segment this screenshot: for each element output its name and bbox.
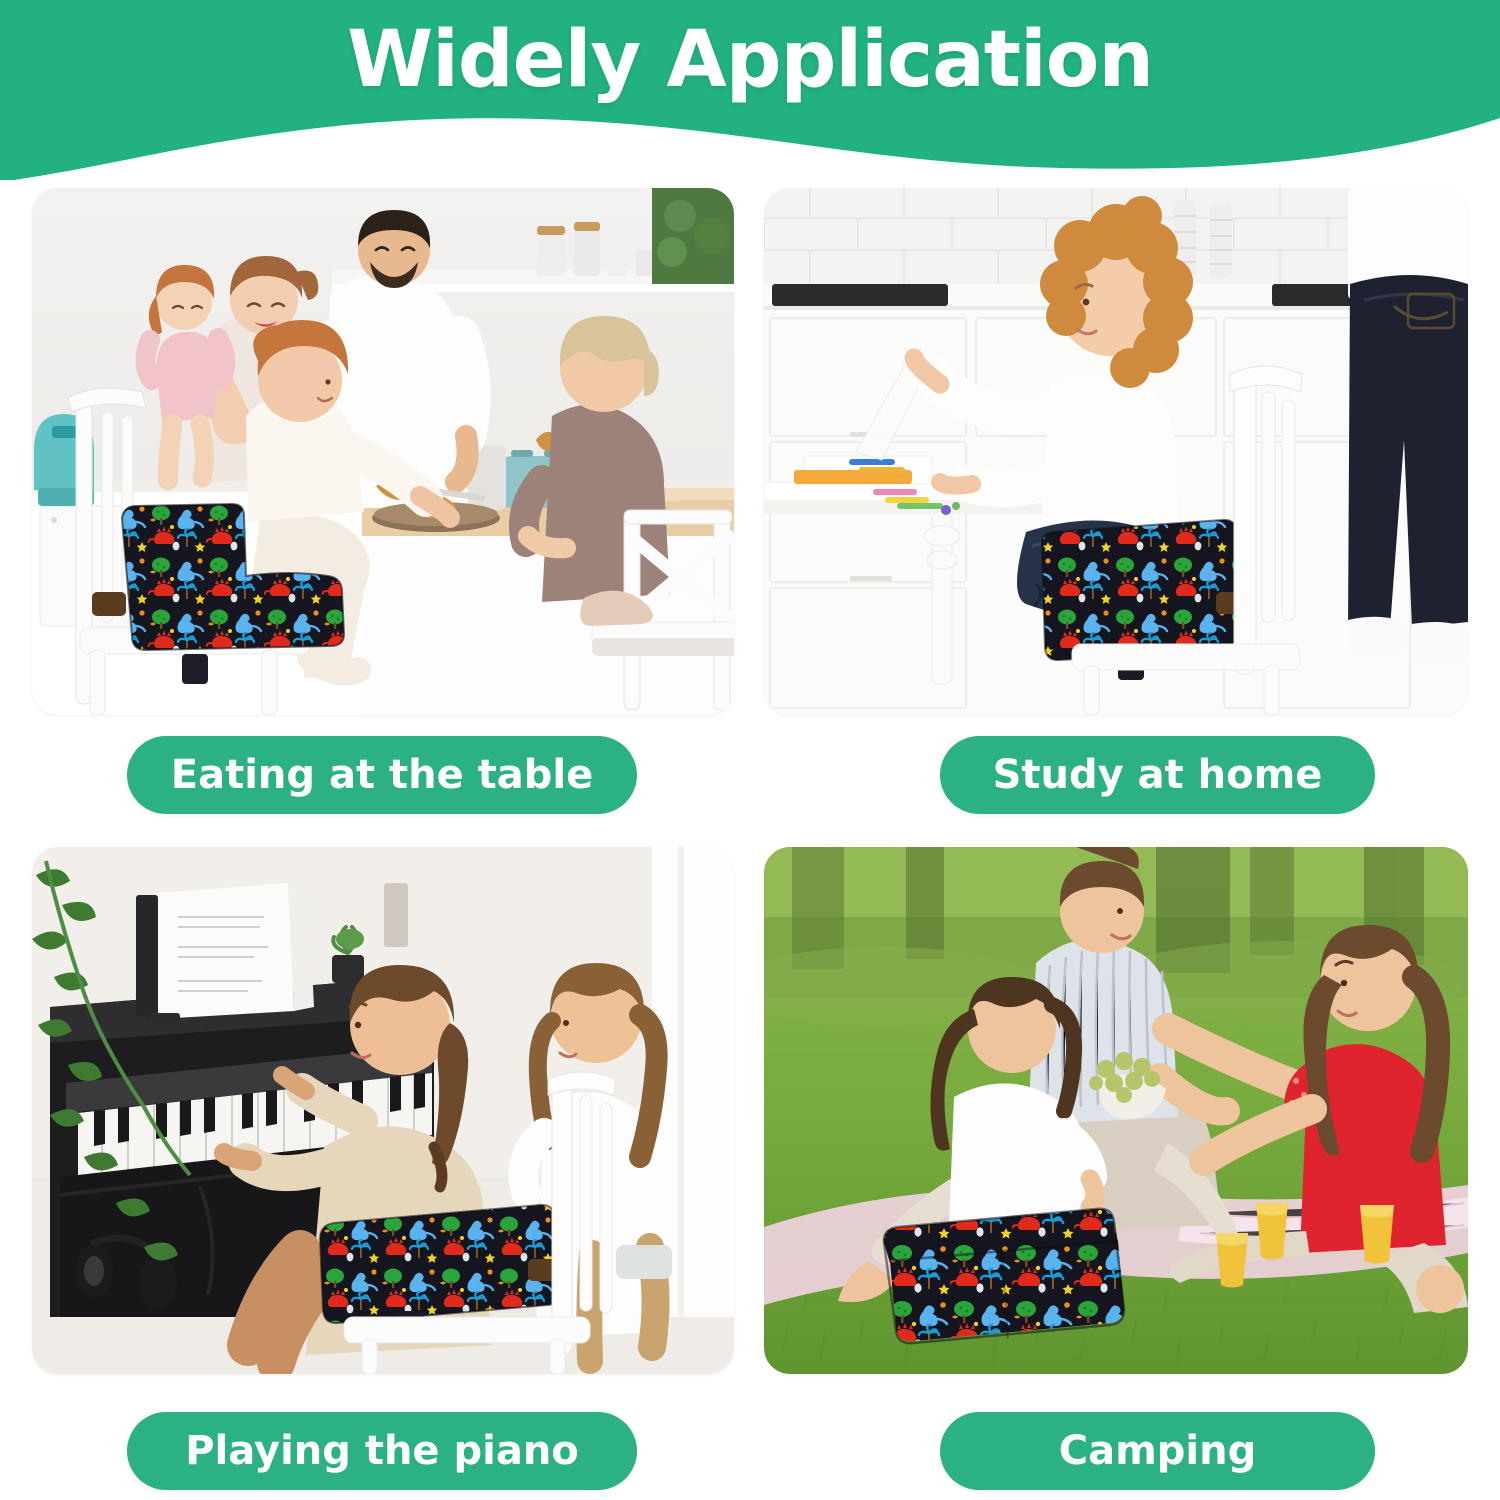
page-header: Widely Application — [0, 0, 1500, 180]
caption-label: Camping — [1059, 1428, 1256, 1474]
page-title: Widely Application — [0, 0, 1500, 120]
illustration-girls-at-upright-piano — [32, 847, 734, 1374]
panel-eating-at-the-table[interactable] — [32, 188, 734, 715]
illustration-family-kitchen-breakfast — [32, 188, 734, 715]
caption-camping: Camping — [940, 1412, 1375, 1490]
photo-eating-at-the-table[interactable] — [32, 188, 734, 715]
booster-cushion — [884, 1209, 1124, 1344]
illustration-family-picnic-on-grass — [764, 847, 1468, 1374]
caption-study-at-home: Study at home — [940, 736, 1375, 814]
caption-label: Eating at the table — [171, 752, 593, 798]
caption-label: Playing the piano — [185, 1428, 579, 1474]
panel-playing-the-piano[interactable] — [32, 847, 734, 1374]
illustration-girl-drawing-at-white-table — [764, 188, 1468, 715]
panel-camping[interactable] — [764, 847, 1468, 1374]
photo-camping[interactable] — [764, 847, 1468, 1374]
photo-study-at-home[interactable] — [764, 188, 1468, 715]
caption-playing-the-piano: Playing the piano — [127, 1412, 637, 1490]
caption-eating-at-the-table: Eating at the table — [127, 736, 637, 814]
application-grid: Eating at the table — [0, 180, 1500, 1500]
panel-study-at-home[interactable] — [764, 188, 1468, 715]
photo-playing-the-piano[interactable] — [32, 847, 734, 1374]
caption-label: Study at home — [993, 752, 1323, 798]
